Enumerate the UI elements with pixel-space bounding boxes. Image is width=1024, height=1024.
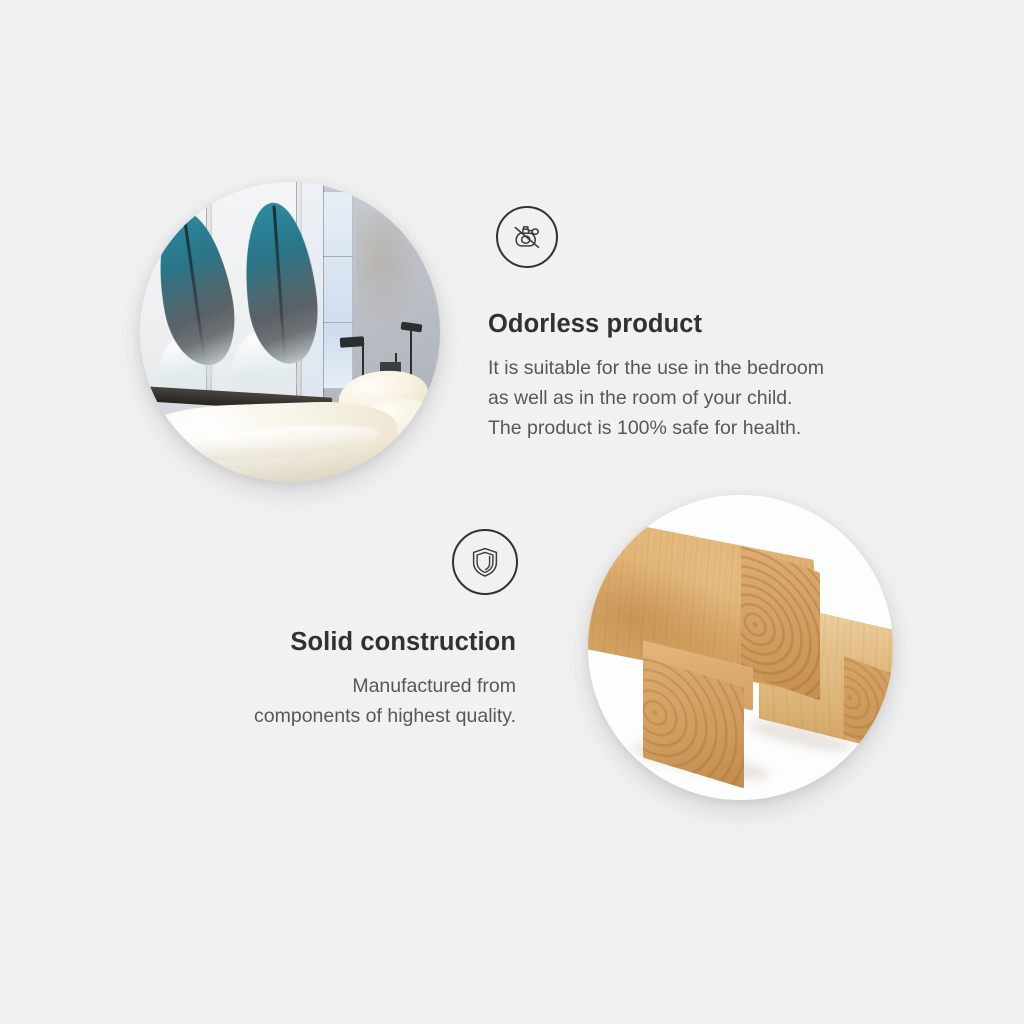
photo-inner-bedroom xyxy=(140,182,440,482)
shield-glyph xyxy=(465,542,505,582)
odorless-body-line-2: as well as in the room of your child. xyxy=(488,383,824,413)
odorless-body-line-3: The product is 100% safe for health. xyxy=(488,413,824,443)
no-fragrance-icon xyxy=(496,206,558,268)
glass-block-window xyxy=(322,191,354,389)
bed-shadow xyxy=(140,440,440,482)
shield-icon xyxy=(452,529,518,595)
infographic-canvas: Odorless product It is suitable for the … xyxy=(0,0,1024,1024)
photo-inner-wood xyxy=(588,495,893,800)
wooden-beams-photo xyxy=(588,495,893,800)
odorless-text-block: Odorless product It is suitable for the … xyxy=(488,310,824,443)
odorless-body-line-1: It is suitable for the use in the bedroo… xyxy=(488,353,824,383)
odorless-title: Odorless product xyxy=(488,310,824,339)
wall-texture xyxy=(356,212,422,326)
solid-construction-title: Solid construction xyxy=(0,628,516,657)
solid-construction-body-line-1: Manufactured from xyxy=(0,671,516,701)
bedroom-feather-wall-art-photo xyxy=(140,182,440,482)
solid-construction-body-line-2: components of highest quality. xyxy=(0,701,516,731)
lamp-shade xyxy=(339,336,364,347)
no-fragrance-glyph xyxy=(507,217,547,257)
solid-construction-text-block: Solid construction Manufactured from com… xyxy=(0,628,516,731)
